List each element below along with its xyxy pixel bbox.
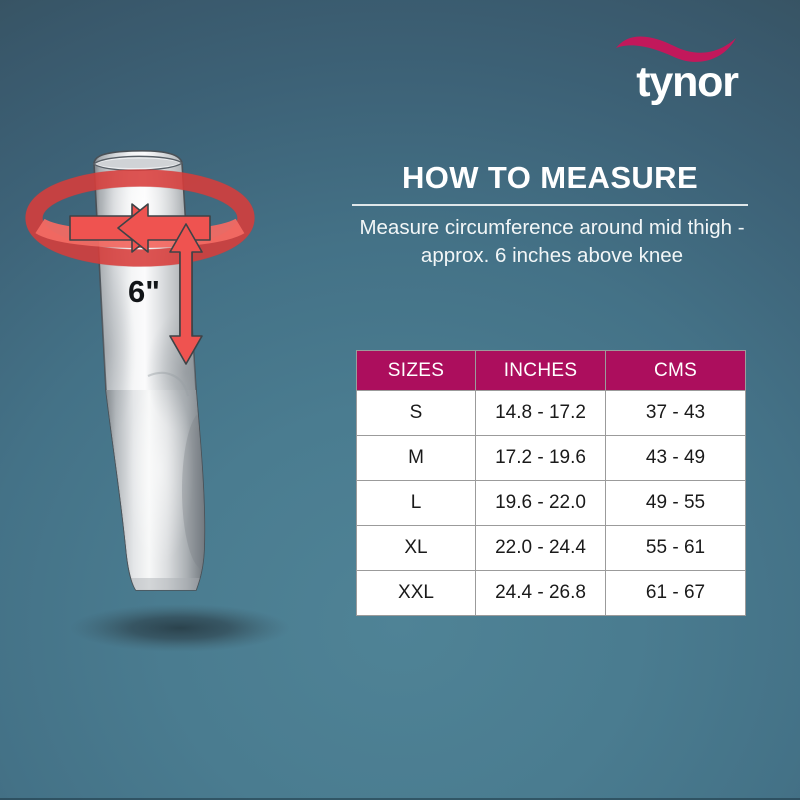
cell-inches: 17.2 - 19.6 [476,436,606,481]
table-row: M 17.2 - 19.6 43 - 49 [357,436,746,481]
cell-cms: 43 - 49 [606,436,746,481]
page-title: HOW TO MEASURE [352,160,748,196]
table-row: S 14.8 - 17.2 37 - 43 [357,391,746,436]
cell-size: L [357,481,476,526]
cell-size: XL [357,526,476,571]
cell-cms: 49 - 55 [606,481,746,526]
column-header-inches: INCHES [476,351,606,391]
table-row: XL 22.0 - 24.4 55 - 61 [357,526,746,571]
brand-wordmark: tynor [622,58,752,106]
cell-size: XXL [357,571,476,616]
cell-cms: 61 - 67 [606,571,746,616]
cell-size: M [357,436,476,481]
size-chart-page: tynor HOW TO MEASURE Measure circumferen… [0,0,800,800]
page-description: Measure circumference around mid thigh -… [352,214,752,270]
column-header-sizes: SIZES [357,351,476,391]
column-header-cms: CMS [606,351,746,391]
leg-measurement-illustration: 6" [20,140,340,660]
cell-inches: 24.4 - 26.8 [476,571,606,616]
title-divider [352,204,748,206]
table-row: XXL 24.4 - 26.8 61 - 67 [357,571,746,616]
cell-inches: 19.6 - 22.0 [476,481,606,526]
table-row: L 19.6 - 22.0 49 - 55 [357,481,746,526]
cell-cms: 37 - 43 [606,391,746,436]
cell-inches: 22.0 - 24.4 [476,526,606,571]
cell-cms: 55 - 61 [606,526,746,571]
cell-inches: 14.8 - 17.2 [476,391,606,436]
cell-size: S [357,391,476,436]
table-header-row: SIZES INCHES CMS [357,351,746,391]
size-chart-table: SIZES INCHES CMS S 14.8 - 17.2 37 - 43 M… [356,350,746,616]
ground-shadow [70,604,290,652]
measurement-label: 6" [128,274,160,309]
brand-logo: tynor [612,26,752,106]
